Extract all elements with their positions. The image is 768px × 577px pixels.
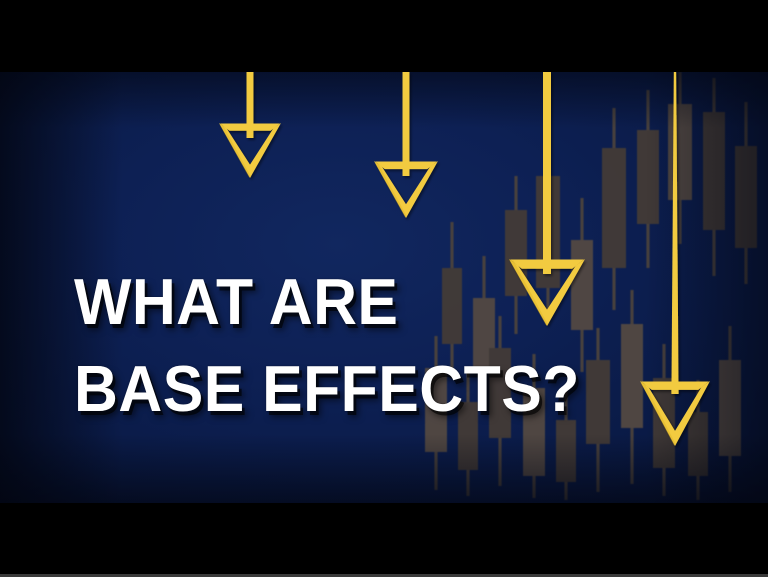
arrow-head-shading: [641, 383, 677, 446]
arrow-head-shading: [220, 125, 252, 178]
arrow-2: [374, 72, 438, 218]
arrow-shaft: [543, 72, 551, 274]
arrow-head-crossbar: [375, 162, 437, 170]
page-title: WHAT ARE BASE EFFECTS?: [74, 258, 615, 432]
video-thumbnail: WHAT ARE BASE EFFECTS?: [0, 0, 768, 577]
arrow-shaft: [403, 72, 410, 176]
letterbox-bar-bottom: [0, 503, 768, 575]
arrow-1: [219, 72, 281, 178]
arrow-head-crossbar: [220, 124, 280, 131]
letterbox-bar-top: [0, 0, 768, 72]
arrow-4: [640, 72, 710, 446]
arrow-shaft: [671, 72, 678, 394]
title-line-1: WHAT ARE: [74, 258, 580, 345]
thumbnail-stage: WHAT ARE BASE EFFECTS?: [0, 72, 768, 503]
title-line-2: BASE EFFECTS?: [74, 345, 580, 432]
arrow-head-shading: [375, 163, 408, 218]
arrow-head-crossbar: [641, 382, 709, 390]
